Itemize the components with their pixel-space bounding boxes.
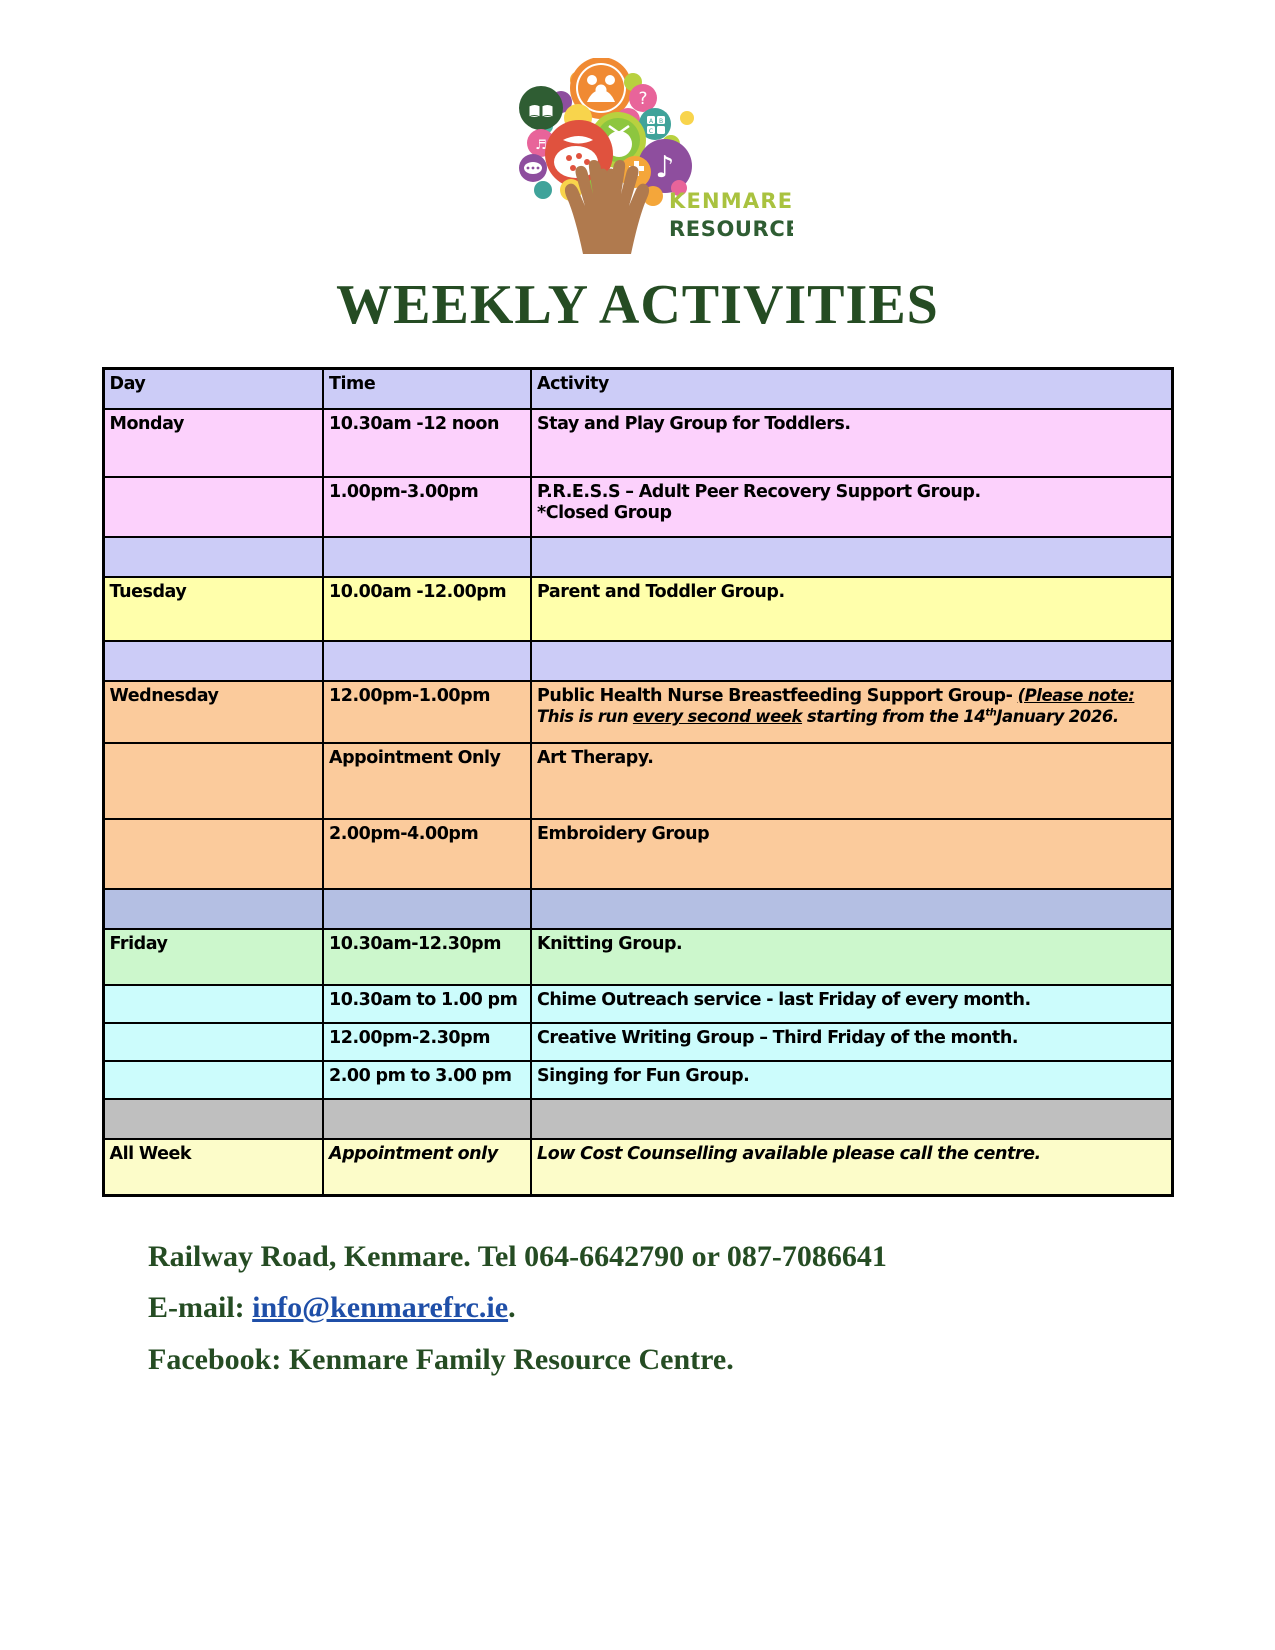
- page-title: WEEKLY ACTIVITIES: [0, 276, 1275, 335]
- note-part-3: starting from the 14: [802, 707, 985, 726]
- table-row: 2.00 pm to 3.00 pm Singing for Fun Group…: [103, 1061, 1172, 1099]
- cell-activity: Chime Outreach service - last Friday of …: [531, 985, 1172, 1023]
- cell-activity: P.R.E.S.S – Adult Peer Recovery Support …: [531, 477, 1172, 537]
- svg-text:♪: ♪: [655, 150, 674, 185]
- cell-activity: [531, 537, 1172, 577]
- footer-email-trail: .: [508, 1291, 516, 1324]
- cell-time: 12.00pm-2.30pm: [323, 1023, 531, 1061]
- table-row: Wednesday 12.00pm-1.00pm Public Health N…: [103, 681, 1172, 743]
- activity-title: Public Health Nurse Breastfeeding Suppor…: [537, 686, 1012, 706]
- cell-activity: [531, 1099, 1172, 1139]
- table-spacer-row: [103, 889, 1172, 929]
- note-ordinal-suffix: th: [985, 708, 996, 719]
- cell-time: 10.30am -12 noon: [323, 409, 531, 477]
- logo-container: ♬ ? A B C: [0, 0, 1275, 258]
- note-part-1: This is run: [537, 707, 633, 726]
- cell-activity: Parent and Toddler Group.: [531, 577, 1172, 641]
- cell-activity: Creative Writing Group – Third Friday of…: [531, 1023, 1172, 1061]
- cell-day: Monday: [103, 409, 323, 477]
- cell-day: [103, 743, 323, 819]
- activity-line-1: P.R.E.S.S – Adult Peer Recovery Support …: [537, 482, 1165, 503]
- cell-day: All Week: [103, 1139, 323, 1196]
- cell-day: [103, 819, 323, 889]
- cell-time: 10.00am -12.00pm: [323, 577, 531, 641]
- table-row: Appointment Only Art Therapy.: [103, 743, 1172, 819]
- email-link[interactable]: info@kenmarefrc.ie: [252, 1291, 508, 1324]
- note-part-2: every second week: [633, 707, 802, 726]
- cell-time: [323, 641, 531, 681]
- activity-line-2: This is run every second week starting f…: [537, 707, 1165, 727]
- cell-activity: Stay and Play Group for Toddlers.: [531, 409, 1172, 477]
- cell-day: [103, 537, 323, 577]
- cell-activity: Singing for Fun Group.: [531, 1061, 1172, 1099]
- table-row: 2.00pm-4.00pm Embroidery Group: [103, 819, 1172, 889]
- cell-activity: Art Therapy.: [531, 743, 1172, 819]
- table-header-row: Day Time Activity: [103, 368, 1172, 409]
- cell-time: 10.30am to 1.00 pm: [323, 985, 531, 1023]
- svg-text:♬: ♬: [535, 138, 547, 153]
- cell-time: [323, 537, 531, 577]
- table-row: 1.00pm-3.00pm P.R.E.S.S – Adult Peer Rec…: [103, 477, 1172, 537]
- cell-time: [323, 1099, 531, 1139]
- activity-line-2: *Closed Group: [537, 503, 1165, 524]
- cell-activity: Low Cost Counselling available please ca…: [531, 1139, 1172, 1196]
- cell-activity: [531, 641, 1172, 681]
- cell-activity: Public Health Nurse Breastfeeding Suppor…: [531, 681, 1172, 743]
- cell-day: [103, 1023, 323, 1061]
- cell-time: 2.00 pm to 3.00 pm: [323, 1061, 531, 1099]
- cell-activity: [531, 889, 1172, 929]
- column-header-activity: Activity: [531, 368, 1172, 409]
- cell-time: 1.00pm-3.00pm: [323, 477, 531, 537]
- column-header-day: Day: [103, 368, 323, 409]
- svg-text:C: C: [648, 128, 652, 135]
- cell-day: [103, 1099, 323, 1139]
- cell-time: 2.00pm-4.00pm: [323, 819, 531, 889]
- note-please-note: (Please note:: [1018, 686, 1135, 705]
- table-row: Monday 10.30am -12 noon Stay and Play Gr…: [103, 409, 1172, 477]
- table-row: 10.30am to 1.00 pm Chime Outreach servic…: [103, 985, 1172, 1023]
- cell-day: Wednesday: [103, 681, 323, 743]
- cell-activity: Embroidery Group: [531, 819, 1172, 889]
- footer-facebook-line: Facebook: Kenmare Family Resource Centre…: [148, 1334, 1275, 1386]
- table-row: 12.00pm-2.30pm Creative Writing Group – …: [103, 1023, 1172, 1061]
- note-part-4: January 2026.: [996, 707, 1118, 726]
- cell-time: Appointment only: [323, 1139, 531, 1196]
- kenmare-frc-logo: ♬ ? A B C: [483, 58, 793, 258]
- weekly-activities-table-wrapper: Day Time Activity Monday 10.30am -12 noo…: [102, 367, 1174, 1197]
- footer-address-line: Railway Road, Kenmare. Tel 064-6642790 o…: [148, 1231, 1275, 1283]
- svg-text:B: B: [658, 118, 662, 125]
- cell-day: [103, 477, 323, 537]
- table-spacer-row: [103, 1099, 1172, 1139]
- table-spacer-row: [103, 641, 1172, 681]
- footer-email-line: E-mail: info@kenmarefrc.ie.: [148, 1282, 1275, 1334]
- weekly-activities-table: Day Time Activity Monday 10.30am -12 noo…: [102, 367, 1174, 1197]
- table-row: Friday 10.30am-12.30pm Knitting Group.: [103, 929, 1172, 985]
- activity-line-1: Public Health Nurse Breastfeeding Suppor…: [537, 686, 1165, 707]
- column-header-time: Time: [323, 368, 531, 409]
- table-row: Tuesday 10.00am -12.00pm Parent and Todd…: [103, 577, 1172, 641]
- footer-contact-block: Railway Road, Kenmare. Tel 064-6642790 o…: [148, 1231, 1275, 1386]
- footer-email-label: E-mail:: [148, 1291, 252, 1324]
- cell-time: Appointment Only: [323, 743, 531, 819]
- cell-day: [103, 641, 323, 681]
- cell-time: 10.30am-12.30pm: [323, 929, 531, 985]
- table-row: All Week Appointment only Low Cost Couns…: [103, 1139, 1172, 1196]
- cell-activity: Knitting Group.: [531, 929, 1172, 985]
- cell-time: [323, 889, 531, 929]
- logo-line1: KENMARE FAMILY: [669, 189, 793, 213]
- cell-day: Friday: [103, 929, 323, 985]
- cell-day: [103, 985, 323, 1023]
- logo-artwork: ♬ ? A B C: [483, 58, 793, 258]
- cell-day: [103, 1061, 323, 1099]
- table-spacer-row: [103, 537, 1172, 577]
- cell-day: [103, 889, 323, 929]
- logo-line2: RESOURCE CENTRE: [669, 217, 793, 241]
- cell-day: Tuesday: [103, 577, 323, 641]
- cell-time: 12.00pm-1.00pm: [323, 681, 531, 743]
- svg-text:?: ?: [638, 89, 647, 109]
